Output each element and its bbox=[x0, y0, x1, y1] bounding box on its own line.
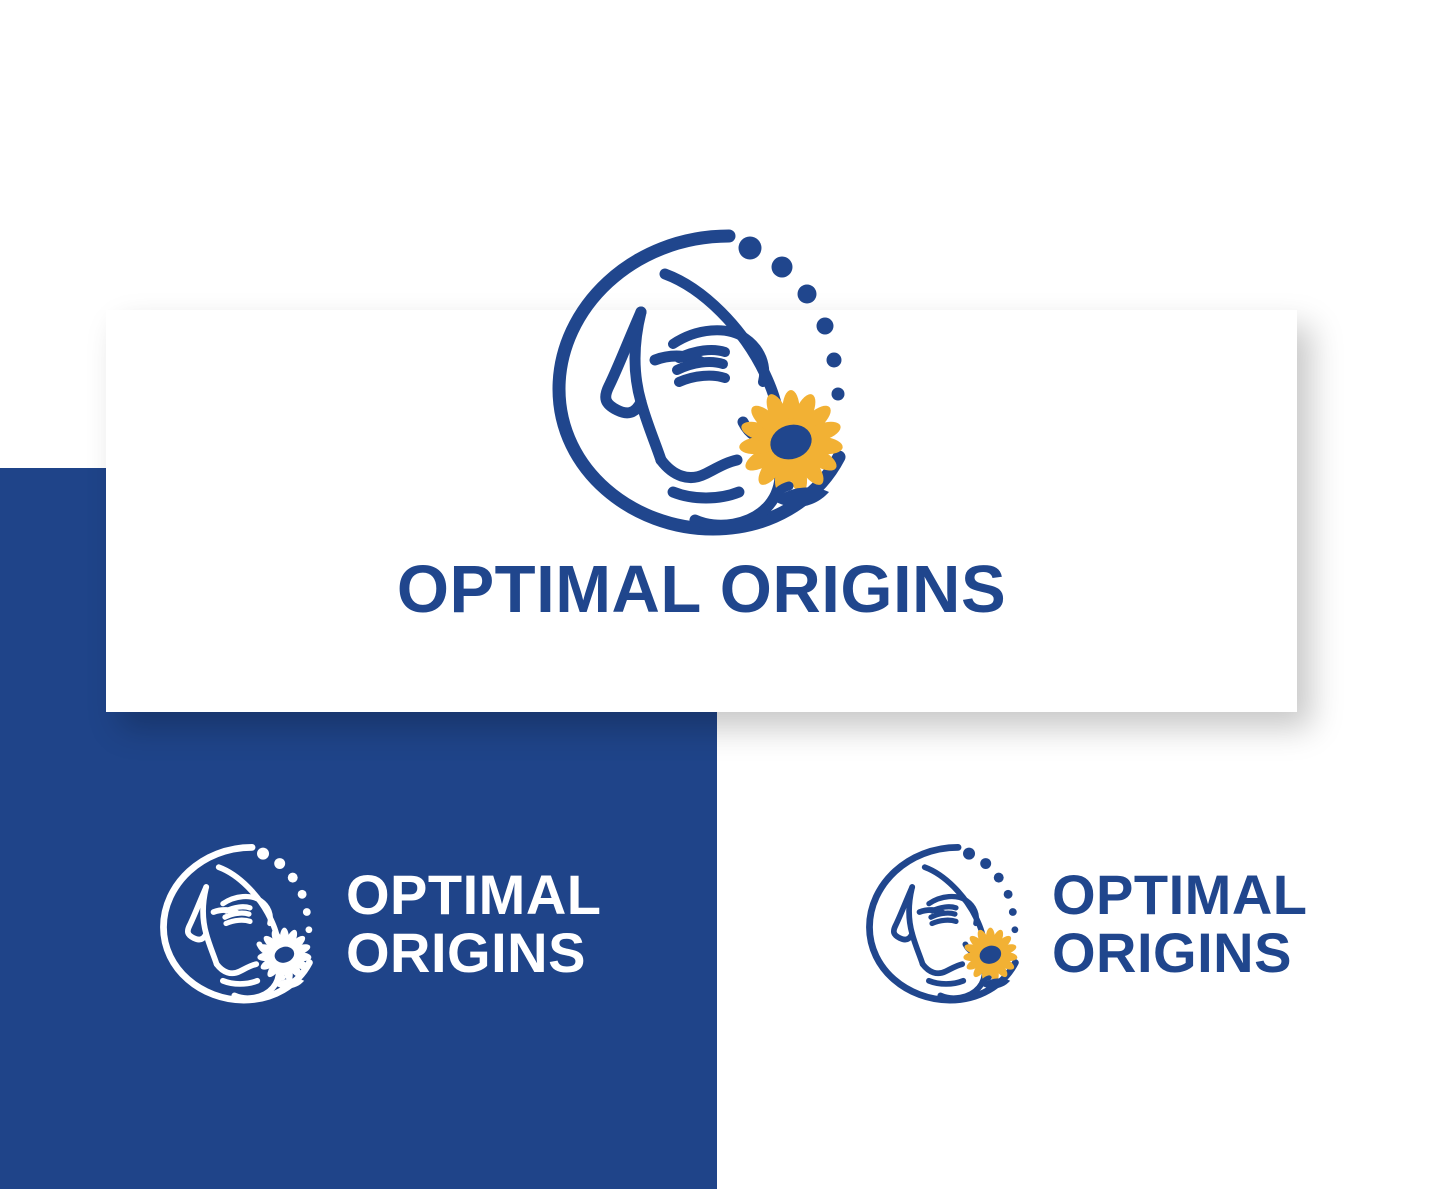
color-wordmark: OPTIMAL ORIGINS bbox=[1052, 866, 1307, 982]
color-wordmark-line-2: ORIGINS bbox=[1052, 924, 1307, 982]
primary-logo-card: OPTIMAL ORIGINS bbox=[106, 310, 1297, 712]
logomark-dots bbox=[738, 237, 844, 401]
reverse-wordmark: OPTIMAL ORIGINS bbox=[346, 866, 601, 982]
reverse-logo-lockup: OPTIMAL ORIGINS bbox=[152, 838, 601, 1010]
primary-logo-lockup: OPTIMAL ORIGINS bbox=[106, 224, 1297, 623]
logomark-leaf bbox=[769, 486, 829, 507]
logomark-figure bbox=[188, 867, 279, 998]
primary-wordmark: OPTIMAL ORIGINS bbox=[397, 556, 1006, 623]
reverse-wordmark-line-2: ORIGINS bbox=[346, 924, 601, 982]
logomark-dots bbox=[257, 848, 312, 933]
optimal-origins-logomark-white bbox=[152, 838, 324, 1010]
logomark-leaf bbox=[273, 978, 304, 989]
optimal-origins-logomark-color bbox=[858, 838, 1030, 1010]
logomark-figure bbox=[605, 274, 780, 525]
color-wordmark-line-1: OPTIMAL bbox=[1052, 866, 1307, 924]
logomark-leaf bbox=[979, 978, 1010, 989]
color-logo-lockup: OPTIMAL ORIGINS bbox=[858, 838, 1307, 1010]
presentation-canvas: OPTIMAL ORIGINS bbox=[0, 0, 1437, 1189]
optimal-origins-logomark bbox=[537, 224, 867, 542]
logomark-dots bbox=[963, 848, 1018, 933]
reverse-wordmark-line-1: OPTIMAL bbox=[346, 866, 601, 924]
logomark-figure bbox=[894, 867, 985, 998]
